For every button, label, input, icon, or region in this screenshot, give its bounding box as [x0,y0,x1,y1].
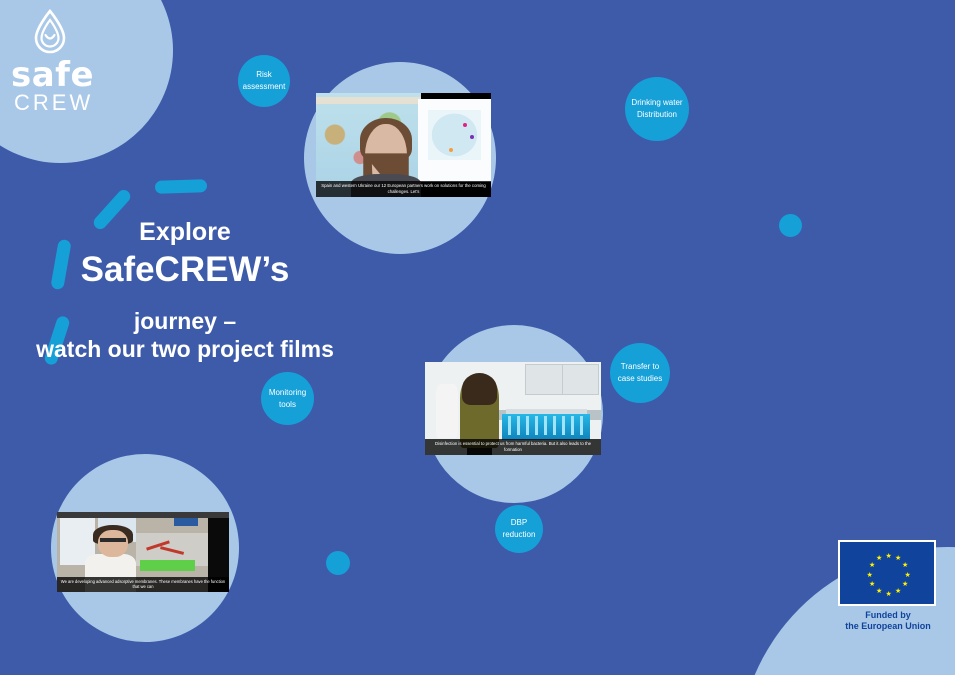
logo-word-crew: CREW [14,92,93,114]
video-caption-3: We are developing advanced adsorptive me… [57,577,229,592]
headline-line-2: SafeCREW’s [20,249,350,291]
badge-transfer-to-case-studies[interactable]: Transfer to case studies [610,343,670,403]
eu-star: ★ [905,572,911,579]
video-thumbnail-membranes[interactable]: We are developing advanced adsorptive me… [57,512,229,592]
video-caption-2: Disinfection is essential to protect us … [425,439,601,455]
badge-drinking-water-distribution[interactable]: Drinking water Distribution [625,77,689,141]
eu-funding-block: ★★★★★★★★★★★★ Funded by the European Unio… [838,540,938,635]
eu-star: ★ [876,555,882,562]
headline-line-3: journey – [20,307,350,336]
poster-canvas: safe CREW Explore SafeCREW’s journey – w… [0,0,955,675]
decorative-dash-1 [155,179,207,194]
logo-word-safe: safe [11,58,94,92]
eu-star: ★ [886,591,892,598]
eu-star: ★ [867,572,873,579]
eu-star: ★ [876,588,882,595]
headline-block: Explore SafeCREW’s journey – watch our t… [20,218,350,362]
safecrew-logo: safe CREW [6,8,116,116]
video-thumbnail-lab-disinfection[interactable]: Disinfection is essential to protect us … [425,362,601,455]
funding-text: Funded by the European Union [838,610,938,633]
eu-star: ★ [886,553,892,560]
video-caption-1: Spain and western Ukraine our 12 Europea… [316,181,491,197]
decorative-dot-2 [326,551,350,575]
funding-line-2: the European Union [838,621,938,632]
eu-star: ★ [895,588,901,595]
eu-star: ★ [902,562,908,569]
eu-star: ★ [869,562,875,569]
video-thumbnail-map-interview[interactable]: Spain and western Ukraine our 12 Europea… [316,93,491,197]
badge-dbp-reduction[interactable]: DBP reduction [495,505,543,553]
funding-line-1: Funded by [838,610,938,621]
eu-flag-icon: ★★★★★★★★★★★★ [838,540,936,606]
headline-line-1: Explore [20,218,350,247]
badge-monitoring-tools[interactable]: Monitoring tools [261,372,314,425]
headline-line-4: watch our two project films [20,336,350,362]
decorative-dot-1 [779,214,802,237]
eu-star: ★ [869,581,875,588]
eu-star: ★ [895,555,901,562]
badge-risk-assessment[interactable]: Risk assessment [238,55,290,107]
eu-star: ★ [902,581,908,588]
